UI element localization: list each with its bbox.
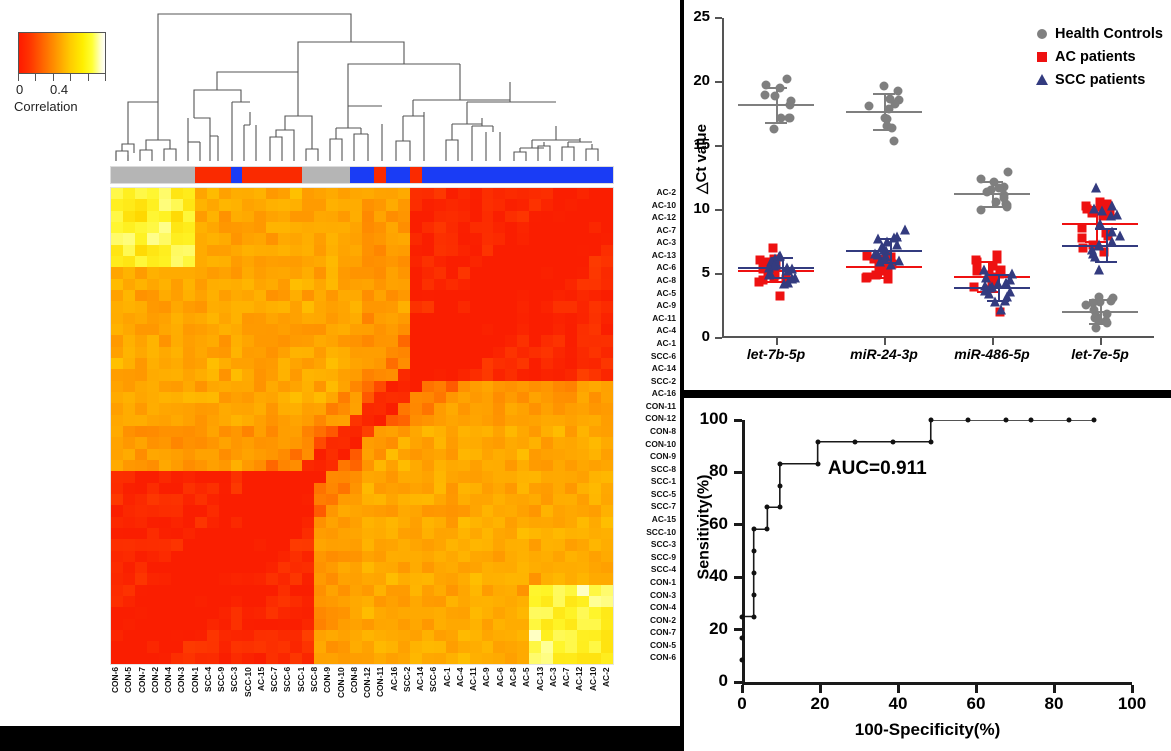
heatmap-cell bbox=[123, 392, 135, 403]
heatmap-cell bbox=[470, 505, 482, 516]
heatmap-cell bbox=[505, 222, 517, 233]
heatmap-cell bbox=[135, 449, 147, 460]
heatmap-cell bbox=[434, 188, 446, 199]
heatmap-column-label: AC-3 bbox=[548, 667, 561, 725]
heatmap-cell bbox=[111, 585, 123, 596]
heatmap-cell bbox=[326, 653, 338, 664]
heatmap-cell bbox=[302, 596, 314, 607]
heatmap-cell bbox=[410, 641, 422, 652]
heatmap-cell bbox=[338, 335, 350, 346]
heatmap-cell bbox=[338, 256, 350, 267]
heatmap-cell bbox=[135, 267, 147, 278]
heatmap-cell bbox=[374, 494, 386, 505]
heatmap-cell bbox=[446, 188, 458, 199]
heatmap-cell bbox=[338, 437, 350, 448]
class-segment-ac-6 bbox=[374, 167, 386, 183]
heatmap-cell bbox=[242, 426, 254, 437]
heatmap-cell bbox=[123, 267, 135, 278]
heatmap-cell bbox=[553, 585, 565, 596]
roc-x-tick bbox=[897, 685, 900, 693]
heatmap-cell bbox=[314, 426, 326, 437]
heatmap-cell bbox=[195, 471, 207, 482]
heatmap-cell bbox=[147, 335, 159, 346]
heatmap-cell bbox=[111, 494, 123, 505]
heatmap-cell bbox=[434, 460, 446, 471]
heatmap-cell bbox=[254, 222, 266, 233]
heatmap-column-label: CON-4 bbox=[163, 667, 176, 725]
heatmap-cell bbox=[517, 505, 529, 516]
heatmap-cell bbox=[338, 630, 350, 641]
heatmap-cell bbox=[458, 449, 470, 460]
heatmap-cell bbox=[553, 539, 565, 550]
heatmap-cell bbox=[601, 483, 613, 494]
heatmap-cell bbox=[601, 392, 613, 403]
roc-y-tick bbox=[734, 471, 742, 474]
heatmap-cell bbox=[207, 551, 219, 562]
heatmap-cell bbox=[458, 607, 470, 618]
heatmap-cell bbox=[159, 607, 171, 618]
heatmap-cell bbox=[314, 630, 326, 641]
heatmap-cell bbox=[111, 290, 123, 301]
heatmap-cell bbox=[278, 641, 290, 652]
heatmap-cell bbox=[231, 324, 243, 335]
heatmap-cell bbox=[529, 222, 541, 233]
heatmap-cell bbox=[266, 585, 278, 596]
heatmap-cell bbox=[565, 313, 577, 324]
heatmap-cell bbox=[290, 551, 302, 562]
heatmap-cell bbox=[207, 324, 219, 335]
heatmap-cell bbox=[159, 471, 171, 482]
heatmap-cell bbox=[386, 199, 398, 210]
heatmap-cell bbox=[434, 426, 446, 437]
heatmap-cell bbox=[505, 539, 517, 550]
heatmap-cell bbox=[135, 596, 147, 607]
heatmap-cell bbox=[219, 245, 231, 256]
heatmap-cell bbox=[458, 415, 470, 426]
heatmap-cell bbox=[254, 267, 266, 278]
heatmap-cell bbox=[482, 188, 494, 199]
heatmap-cell bbox=[254, 630, 266, 641]
heatmap-cell bbox=[577, 267, 589, 278]
heatmap-cell bbox=[458, 483, 470, 494]
heatmap-cell bbox=[386, 188, 398, 199]
roc-x-axis bbox=[742, 682, 1132, 685]
heatmap-cell bbox=[147, 324, 159, 335]
heatmap-cell bbox=[111, 335, 123, 346]
roc-data-point bbox=[815, 461, 820, 466]
scatter-point bbox=[775, 291, 784, 300]
heatmap-cell bbox=[410, 607, 422, 618]
heatmap-cell bbox=[326, 551, 338, 562]
heatmap-cell bbox=[302, 313, 314, 324]
heatmap-cell bbox=[517, 199, 529, 210]
heatmap-cell bbox=[517, 483, 529, 494]
heatmap-cell bbox=[565, 471, 577, 482]
heatmap-column-label: SCC-8 bbox=[309, 667, 322, 725]
heatmap-cell bbox=[577, 211, 589, 222]
heatmap-cell bbox=[290, 369, 302, 380]
heatmap-cell bbox=[505, 324, 517, 335]
heatmap-cell bbox=[159, 449, 171, 460]
heatmap-cell bbox=[553, 596, 565, 607]
heatmap-cell bbox=[553, 335, 565, 346]
heatmap-cell bbox=[195, 301, 207, 312]
heatmap-cell bbox=[505, 653, 517, 664]
heatmap-cell bbox=[290, 392, 302, 403]
heatmap-cell bbox=[541, 517, 553, 528]
heatmap-cell bbox=[135, 381, 147, 392]
heatmap-cell bbox=[242, 539, 254, 550]
heatmap-cell bbox=[207, 539, 219, 550]
heatmap-cell bbox=[422, 222, 434, 233]
heatmap-cell bbox=[147, 494, 159, 505]
heatmap-cell bbox=[183, 539, 195, 550]
heatmap-cell bbox=[577, 279, 589, 290]
heatmap-cell bbox=[326, 483, 338, 494]
heatmap-cell bbox=[195, 449, 207, 460]
heatmap-cell bbox=[541, 426, 553, 437]
heatmap-cell bbox=[374, 245, 386, 256]
heatmap-cell bbox=[111, 392, 123, 403]
heatmap-cell bbox=[493, 358, 505, 369]
roc-data-point bbox=[751, 527, 756, 532]
heatmap-cell bbox=[242, 562, 254, 573]
class-segment-ac-9 bbox=[422, 167, 613, 183]
heatmap-cell bbox=[386, 245, 398, 256]
heatmap-cell bbox=[266, 551, 278, 562]
heatmap-cell bbox=[446, 267, 458, 278]
heatmap-cell bbox=[338, 392, 350, 403]
colorbar-ticks bbox=[18, 74, 106, 82]
heatmap-cell bbox=[470, 449, 482, 460]
heatmap-cell bbox=[374, 619, 386, 630]
heatmap-cell bbox=[171, 313, 183, 324]
heatmap-column-label: CON-11 bbox=[375, 667, 388, 725]
heatmap-cell bbox=[326, 347, 338, 358]
heatmap-cell bbox=[434, 392, 446, 403]
heatmap-cell bbox=[254, 358, 266, 369]
heatmap-cell bbox=[505, 301, 517, 312]
heatmap-cell bbox=[290, 460, 302, 471]
heatmap-cell bbox=[278, 403, 290, 414]
heatmap-cell bbox=[195, 596, 207, 607]
heatmap-cell bbox=[338, 539, 350, 550]
heatmap-cell bbox=[589, 279, 601, 290]
heatmap-cell bbox=[398, 505, 410, 516]
heatmap-cell bbox=[338, 211, 350, 222]
heatmap-cell bbox=[242, 279, 254, 290]
heatmap-cell bbox=[147, 256, 159, 267]
heatmap-cell bbox=[493, 301, 505, 312]
heatmap-cell bbox=[458, 301, 470, 312]
scatter-x-tick bbox=[992, 338, 994, 345]
heatmap-cell bbox=[434, 381, 446, 392]
heatmap-cell bbox=[386, 573, 398, 584]
heatmap-cell bbox=[589, 460, 601, 471]
heatmap-cell bbox=[434, 324, 446, 335]
heatmap-cell bbox=[326, 403, 338, 414]
heatmap-cell bbox=[314, 619, 326, 630]
heatmap-cell bbox=[470, 483, 482, 494]
heatmap-cell bbox=[398, 607, 410, 618]
heatmap-row-label: CON-4 bbox=[616, 602, 678, 615]
heatmap-cell bbox=[111, 517, 123, 528]
heatmap-cell bbox=[111, 437, 123, 448]
heatmap-cell bbox=[434, 517, 446, 528]
heatmap-cell bbox=[446, 653, 458, 664]
heatmap-cell bbox=[493, 324, 505, 335]
heatmap-cell bbox=[350, 324, 362, 335]
heatmap-cell bbox=[458, 222, 470, 233]
heatmap-cell bbox=[529, 596, 541, 607]
heatmap-cell bbox=[410, 494, 422, 505]
heatmap-cell bbox=[493, 471, 505, 482]
heatmap-cell bbox=[290, 437, 302, 448]
heatmap-row-label: AC-7 bbox=[616, 225, 678, 238]
heatmap-cell bbox=[374, 347, 386, 358]
heatmap-cell bbox=[577, 358, 589, 369]
heatmap-cell bbox=[565, 324, 577, 335]
heatmap-cell bbox=[290, 596, 302, 607]
heatmap-cell bbox=[231, 335, 243, 346]
heatmap-cell bbox=[254, 505, 266, 516]
heatmap-cell bbox=[278, 290, 290, 301]
heatmap-cell bbox=[302, 573, 314, 584]
heatmap-cell bbox=[302, 188, 314, 199]
heatmap-cell bbox=[398, 256, 410, 267]
heatmap-cell bbox=[553, 403, 565, 414]
heatmap-cell bbox=[493, 483, 505, 494]
heatmap-cell bbox=[470, 619, 482, 630]
colorbar-tick-mid: 0.4 bbox=[50, 82, 68, 97]
heatmap-cell bbox=[326, 256, 338, 267]
heatmap-cell bbox=[470, 641, 482, 652]
heatmap-cell bbox=[458, 653, 470, 664]
heatmap-cell bbox=[565, 256, 577, 267]
heatmap-cell bbox=[505, 562, 517, 573]
heatmap-cell bbox=[410, 403, 422, 414]
heatmap-cell bbox=[565, 188, 577, 199]
heatmap-cell bbox=[577, 381, 589, 392]
heatmap-cell bbox=[529, 483, 541, 494]
heatmap-cell bbox=[195, 211, 207, 222]
heatmap-cell bbox=[517, 324, 529, 335]
heatmap-cell bbox=[529, 267, 541, 278]
heatmap-cell bbox=[171, 301, 183, 312]
scatter-point bbox=[991, 198, 1000, 207]
heatmap-cell bbox=[505, 619, 517, 630]
heatmap-cell bbox=[601, 517, 613, 528]
heatmap-cell bbox=[470, 347, 482, 358]
heatmap-cell bbox=[482, 505, 494, 516]
heatmap-cell bbox=[577, 562, 589, 573]
heatmap-cell bbox=[446, 539, 458, 550]
heatmap-cell bbox=[398, 313, 410, 324]
heatmap-cell bbox=[242, 199, 254, 210]
heatmap-cell bbox=[242, 437, 254, 448]
heatmap-column-label: SCC-6 bbox=[282, 667, 295, 725]
heatmap-cell bbox=[446, 403, 458, 414]
heatmap-cell bbox=[183, 415, 195, 426]
heatmap-cell bbox=[362, 494, 374, 505]
heatmap-cell bbox=[517, 233, 529, 244]
heatmap-cell bbox=[374, 630, 386, 641]
heatmap-cell bbox=[338, 483, 350, 494]
roc-data-point bbox=[765, 527, 770, 532]
heatmap-cell bbox=[159, 505, 171, 516]
heatmap-cell bbox=[314, 505, 326, 516]
heatmap-cell bbox=[254, 313, 266, 324]
heatmap-cell bbox=[517, 313, 529, 324]
heatmap-cell bbox=[254, 528, 266, 539]
heatmap-cell bbox=[314, 301, 326, 312]
heatmap-cell bbox=[135, 471, 147, 482]
heatmap-cell bbox=[434, 199, 446, 210]
heatmap-cell bbox=[422, 437, 434, 448]
heatmap-cell bbox=[374, 517, 386, 528]
scatter-point bbox=[982, 188, 991, 197]
heatmap-cell bbox=[195, 426, 207, 437]
heatmap-cell bbox=[529, 211, 541, 222]
heatmap-cell bbox=[541, 188, 553, 199]
heatmap-cell bbox=[517, 279, 529, 290]
heatmap-cell bbox=[517, 369, 529, 380]
heatmap-cell bbox=[338, 596, 350, 607]
heatmap-cell bbox=[338, 494, 350, 505]
roc-data-point bbox=[928, 418, 933, 423]
heatmap-cell bbox=[398, 619, 410, 630]
heatmap-cell bbox=[266, 335, 278, 346]
heatmap-cell bbox=[338, 551, 350, 562]
heatmap-cell bbox=[553, 630, 565, 641]
heatmap-cell bbox=[517, 358, 529, 369]
heatmap-cell bbox=[398, 437, 410, 448]
heatmap-cell bbox=[565, 369, 577, 380]
heatmap-cell bbox=[398, 630, 410, 641]
heatmap-cell bbox=[314, 290, 326, 301]
heatmap-cell bbox=[254, 279, 266, 290]
heatmap-cell bbox=[493, 279, 505, 290]
heatmap-cell bbox=[242, 211, 254, 222]
heatmap-cell bbox=[111, 188, 123, 199]
heatmap-cell bbox=[482, 381, 494, 392]
heatmap-cell bbox=[135, 528, 147, 539]
heatmap-cell bbox=[278, 369, 290, 380]
heatmap-cell bbox=[195, 335, 207, 346]
heatmap-column-label: CON-12 bbox=[362, 667, 375, 725]
heatmap-cell bbox=[541, 256, 553, 267]
heatmap-cell bbox=[601, 539, 613, 550]
heatmap-cell bbox=[254, 381, 266, 392]
heatmap-cell bbox=[231, 596, 243, 607]
heatmap-cell bbox=[266, 426, 278, 437]
heatmap-cell bbox=[147, 392, 159, 403]
heatmap-cell bbox=[183, 381, 195, 392]
heatmap-cell bbox=[135, 426, 147, 437]
heatmap-cell bbox=[601, 426, 613, 437]
heatmap-cell bbox=[302, 324, 314, 335]
scatter-y-tick bbox=[715, 145, 722, 147]
heatmap-cell bbox=[529, 630, 541, 641]
heatmap-cell bbox=[565, 415, 577, 426]
heatmap-cell bbox=[111, 347, 123, 358]
heatmap-cell bbox=[493, 449, 505, 460]
heatmap-cell bbox=[446, 596, 458, 607]
heatmap-cell bbox=[470, 324, 482, 335]
heatmap-cell bbox=[123, 528, 135, 539]
heatmap-row-label: SCC-7 bbox=[616, 501, 678, 514]
heatmap-cell bbox=[183, 596, 195, 607]
heatmap-cell bbox=[159, 279, 171, 290]
heatmap-cell bbox=[159, 494, 171, 505]
heatmap-cell bbox=[231, 551, 243, 562]
heatmap-cell bbox=[338, 245, 350, 256]
heatmap-cell bbox=[553, 267, 565, 278]
heatmap-cell bbox=[207, 641, 219, 652]
heatmap-cell bbox=[386, 619, 398, 630]
heatmap-cell bbox=[493, 426, 505, 437]
heatmap-cell bbox=[290, 483, 302, 494]
heatmap-cell bbox=[482, 573, 494, 584]
heatmap-cell bbox=[278, 211, 290, 222]
heatmap-cell bbox=[314, 313, 326, 324]
heatmap-cell bbox=[111, 449, 123, 460]
heatmap-cell bbox=[446, 641, 458, 652]
heatmap-cell bbox=[517, 437, 529, 448]
colorbar-gradient bbox=[18, 32, 106, 74]
heatmap-cell bbox=[601, 211, 613, 222]
heatmap-cell bbox=[410, 562, 422, 573]
heatmap-cell bbox=[278, 335, 290, 346]
heatmap-cell bbox=[601, 562, 613, 573]
heatmap-cell bbox=[505, 449, 517, 460]
heatmap-row-label: AC-2 bbox=[616, 187, 678, 200]
heatmap-cell bbox=[314, 279, 326, 290]
heatmap-cell bbox=[386, 347, 398, 358]
heatmap-cell bbox=[147, 347, 159, 358]
legend-marker-wrap bbox=[1029, 29, 1055, 39]
heatmap-cell bbox=[493, 562, 505, 573]
heatmap-cell bbox=[242, 347, 254, 358]
heatmap-cell bbox=[410, 539, 422, 550]
scatter-point bbox=[892, 239, 902, 249]
heatmap-cell bbox=[470, 301, 482, 312]
heatmap-cell bbox=[123, 505, 135, 516]
heatmap-cell bbox=[422, 607, 434, 618]
heatmap-cell bbox=[278, 517, 290, 528]
heatmap-cell bbox=[434, 233, 446, 244]
heatmap-cell bbox=[219, 222, 231, 233]
heatmap-cell bbox=[338, 279, 350, 290]
heatmap-cell bbox=[326, 335, 338, 346]
heatmap-cell bbox=[529, 437, 541, 448]
heatmap-cell bbox=[386, 551, 398, 562]
heatmap-cell bbox=[446, 505, 458, 516]
heatmap-row-label: CON-1 bbox=[616, 577, 678, 590]
heatmap-cell bbox=[601, 381, 613, 392]
heatmap-cell bbox=[446, 483, 458, 494]
heatmap-cell bbox=[517, 585, 529, 596]
heatmap-cell bbox=[470, 358, 482, 369]
heatmap-cell bbox=[386, 641, 398, 652]
scatter-point bbox=[779, 279, 789, 289]
heatmap-cell bbox=[589, 267, 601, 278]
heatmap-cell bbox=[386, 301, 398, 312]
heatmap-cell bbox=[482, 517, 494, 528]
heatmap-cell bbox=[386, 449, 398, 460]
heatmap-cell bbox=[374, 199, 386, 210]
heatmap-cell bbox=[147, 517, 159, 528]
